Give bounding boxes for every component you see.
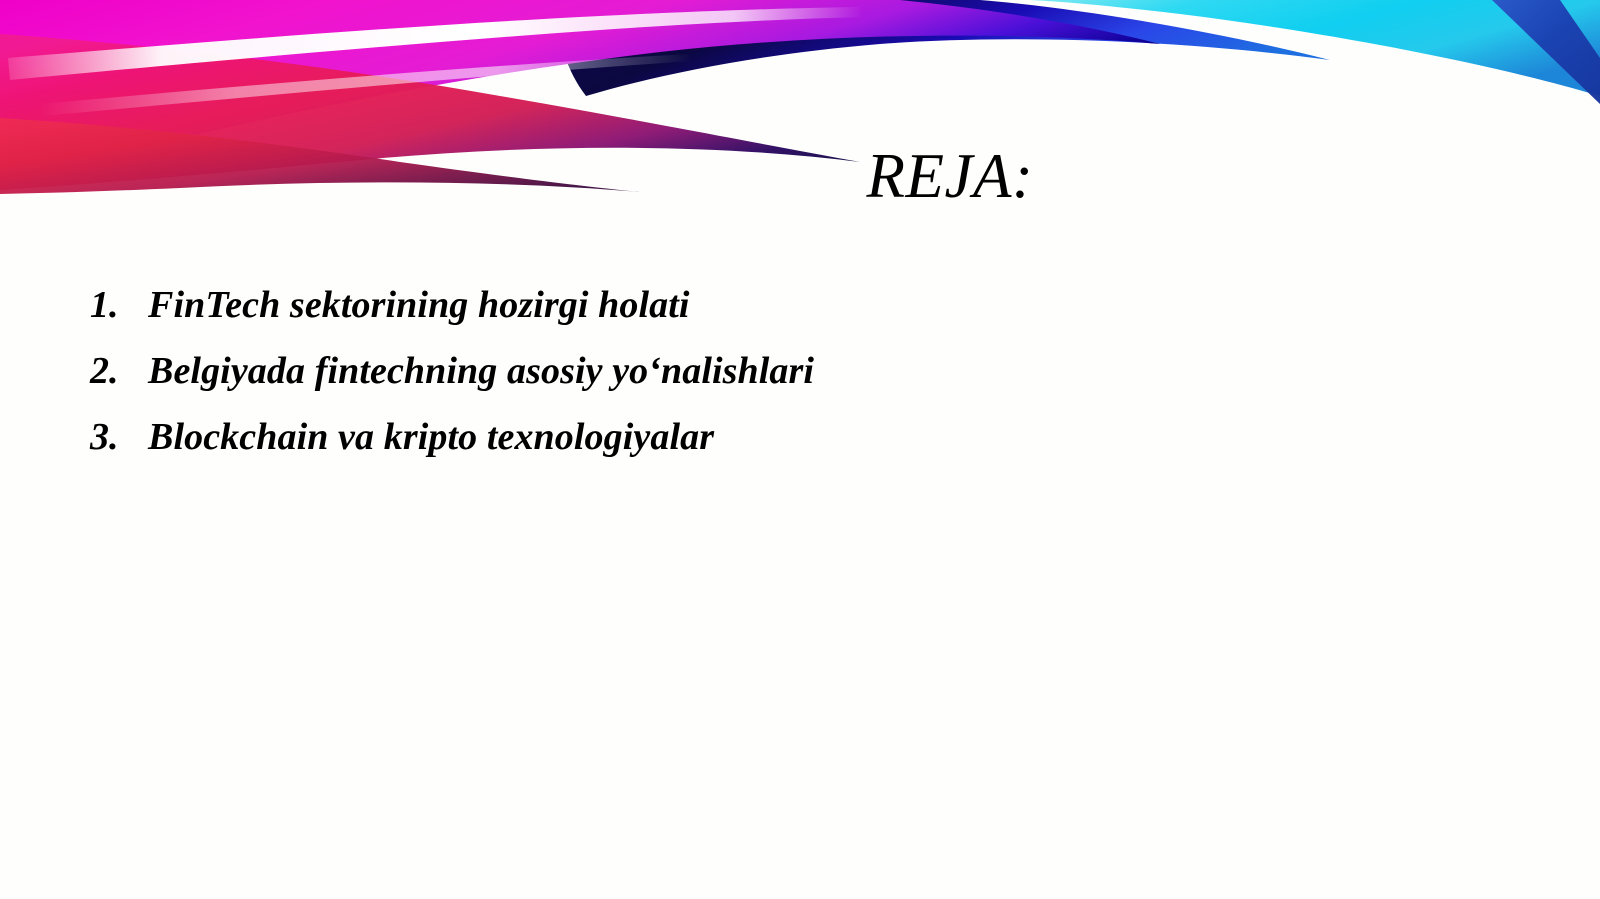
list-item-number: 3. — [90, 418, 148, 456]
list-item-label: Belgiyada fintechning asosiy yoʻnalishla… — [148, 352, 1270, 390]
title-block: REJA: — [0, 143, 1600, 209]
page-title: REJA: — [867, 143, 1034, 209]
list-item-number: 1. — [90, 286, 148, 324]
list-item: 1. FinTech sektorining hozirgi holati — [90, 286, 1270, 352]
list-item-label: FinTech sektorining hozirgi holati — [148, 286, 1270, 324]
list-item-label: Blockchain va kripto texnologiyalar — [148, 418, 1270, 456]
list-item-number: 2. — [90, 352, 148, 390]
list-item: 3. Blockchain va kripto texnologiyalar — [90, 418, 1270, 484]
wave-white-streak — [8, 7, 862, 80]
list-item: 2. Belgiyada fintechning asosiy yoʻnalis… — [90, 352, 1270, 418]
wave-navy-band — [559, 0, 1330, 96]
wave-blue-edge-stripe — [1492, 0, 1600, 104]
wave-white-streak-secondary — [40, 54, 692, 116]
wave-cyan-layer — [1030, 0, 1600, 96]
agenda-list: 1. FinTech sektorining hozirgi holati 2.… — [90, 286, 1270, 484]
presentation-slide: REJA: 1. FinTech sektorining hozirgi hol… — [0, 0, 1600, 899]
